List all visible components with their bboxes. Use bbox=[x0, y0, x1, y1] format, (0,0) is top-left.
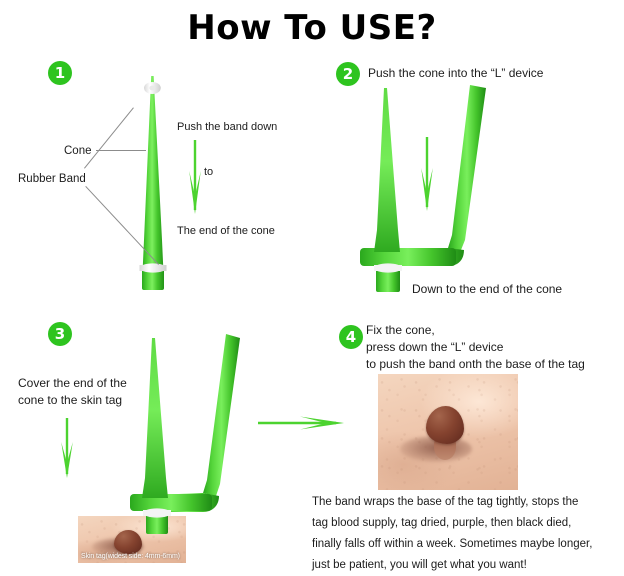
label-cone: Cone bbox=[64, 143, 92, 159]
skin-tag-photo-step4 bbox=[378, 374, 518, 490]
skin-tag-step4 bbox=[426, 406, 464, 444]
right-arrow-icon-flow bbox=[258, 408, 346, 438]
l-device-step2 bbox=[352, 80, 532, 300]
step-badge-1: 1 bbox=[48, 61, 72, 85]
step2-caption: Down to the end of the cone bbox=[412, 281, 562, 298]
instruction-sheet: How To USE? 1 Cone bbox=[0, 0, 624, 569]
step-badge-4: 4 bbox=[339, 325, 363, 349]
down-arrow-icon-step3 bbox=[54, 418, 80, 480]
step1-instruction-top: Push the band down bbox=[177, 120, 277, 135]
label-rubber-band: Rubber Band bbox=[18, 171, 86, 187]
step4-heading: Fix the cone, press down the “L” device … bbox=[366, 322, 585, 373]
step4-paragraph: The band wraps the base of the tag tight… bbox=[312, 492, 612, 576]
cone-device-step1 bbox=[118, 72, 188, 294]
down-arrow-icon-step2 bbox=[414, 137, 440, 213]
page-title: How To USE? bbox=[0, 8, 624, 48]
step-badge-3: 3 bbox=[48, 322, 72, 346]
down-arrow-icon-step1 bbox=[182, 140, 208, 216]
step1-instruction-bottom: The end of the cone bbox=[177, 224, 275, 239]
leader-line-cone bbox=[96, 150, 146, 151]
skin-tag-photo-caption: Skin tag(widest side: 4mm-6mm) bbox=[81, 552, 180, 561]
